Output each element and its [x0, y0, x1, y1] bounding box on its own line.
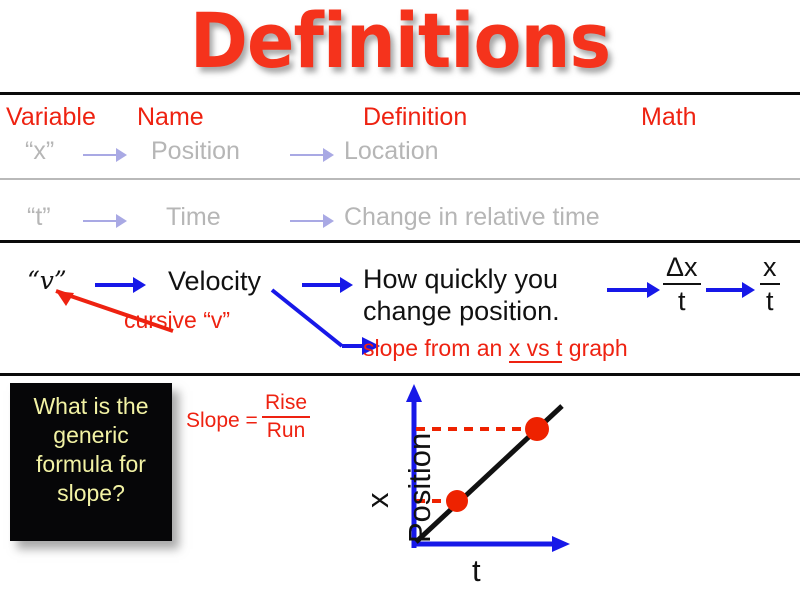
data-point-lower: [446, 490, 468, 512]
row-velocity-definition-line1: How quickly you: [363, 264, 558, 295]
row-position-name: Position: [151, 137, 240, 166]
position-vs-time-chart: x Position t: [330, 378, 630, 600]
column-header-variable: Variable: [6, 103, 96, 132]
math-delta-x-over-t: Δx t: [663, 253, 701, 316]
slope-formula-label: Slope =: [186, 409, 258, 433]
fraction-bar: [262, 416, 310, 418]
divider-top: [0, 92, 800, 95]
arrow-right-icon: [607, 282, 661, 298]
row-velocity-definition-line2: change position.: [363, 296, 560, 327]
row-time-variable: “t”: [27, 203, 51, 232]
fraction-bar: [663, 283, 701, 285]
question-box: What is the generic formula for slope?: [10, 383, 172, 541]
row-time-name: Time: [166, 203, 221, 232]
divider-row2-row3: [0, 240, 800, 243]
row-time-definition: Change in relative time: [344, 203, 600, 232]
column-header-definition: Definition: [363, 103, 467, 132]
math-numerator: Δx: [663, 253, 701, 281]
slope-text-suffix: graph: [562, 335, 627, 361]
question-line-2: generic: [10, 421, 172, 450]
page-title: Definitions: [32, 0, 768, 86]
slope-formula-fraction: Rise Run: [262, 392, 310, 442]
slope-text-xvst: x vs t: [509, 335, 563, 363]
slope-denominator: Run: [262, 420, 310, 442]
arrow-right-icon: [83, 214, 127, 228]
question-line-4: slope?: [10, 479, 172, 508]
question-line-1: What is the: [10, 392, 172, 421]
row-velocity-definition-slope: slope from an x vs t graph: [363, 335, 628, 362]
y-axis-arrowhead: [406, 384, 422, 402]
row-position-variable: “x”: [25, 137, 54, 166]
y-axis-label-symbol: x: [360, 493, 396, 509]
row-position-definition: Location: [344, 137, 439, 166]
column-header-name: Name: [137, 103, 204, 132]
arrow-right-icon: [706, 282, 756, 298]
arrow-right-icon: [290, 148, 334, 162]
slope-text-prefix: slope from an: [363, 335, 509, 361]
math-denominator: t: [663, 287, 701, 315]
y-axis-label: Position: [402, 433, 438, 543]
math-numerator: x: [760, 253, 780, 281]
row-velocity-variable-note: cursive “v”: [124, 307, 230, 334]
fraction-bar: [760, 283, 780, 285]
question-line-3: formula for: [10, 450, 172, 479]
divider-bottom: [0, 373, 800, 376]
math-denominator: t: [760, 287, 780, 315]
arrow-right-icon: [290, 214, 334, 228]
x-axis-label: t: [472, 553, 481, 589]
data-point-upper: [525, 417, 549, 441]
slide-canvas: Definitions Variable Name Definition Mat…: [0, 0, 800, 600]
slope-numerator: Rise: [262, 392, 310, 414]
x-axis-arrowhead: [552, 536, 570, 552]
math-x-over-t: x t: [760, 253, 780, 316]
arrow-right-icon: [83, 148, 127, 162]
column-header-math: Math: [641, 103, 697, 132]
arrow-right-icon: [302, 277, 354, 293]
divider-row1-row2: [0, 178, 800, 180]
